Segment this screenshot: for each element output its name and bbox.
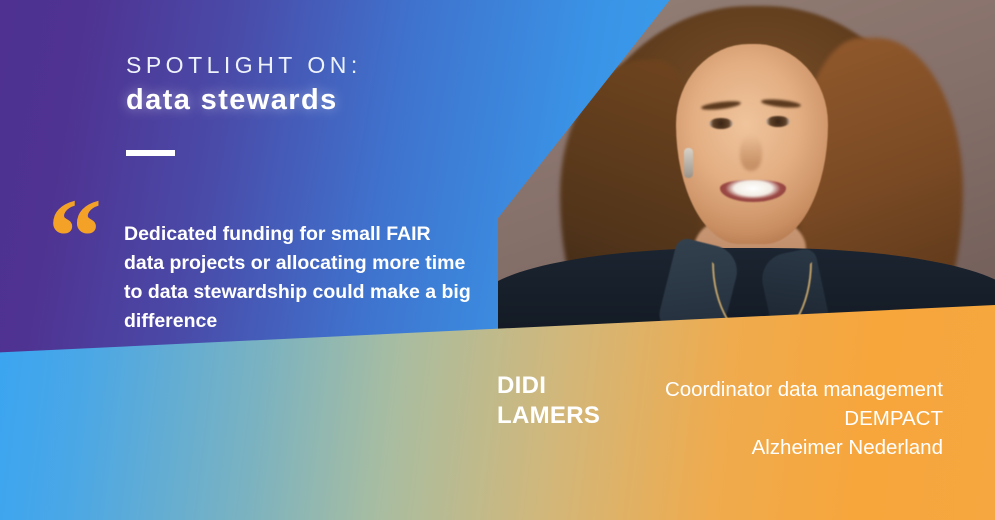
spotlight-title: data stewards [126,84,338,117]
person-project: DEMPACT [523,404,943,433]
person-organisation: Alzheimer Nederland [523,433,943,462]
quote-text: Dedicated funding for small FAIR data pr… [124,220,474,336]
portrait-photo [498,0,995,353]
person-meta: Coordinator data management DEMPACT Alzh… [523,375,943,462]
spotlight-card: SPOTLIGHT ON: data stewards “ Dedicated … [0,0,995,520]
quote-mark-icon: “ [48,196,124,258]
title-divider [126,150,175,156]
person-role: Coordinator data management [523,375,943,404]
spotlight-kicker: SPOTLIGHT ON: [126,52,362,79]
